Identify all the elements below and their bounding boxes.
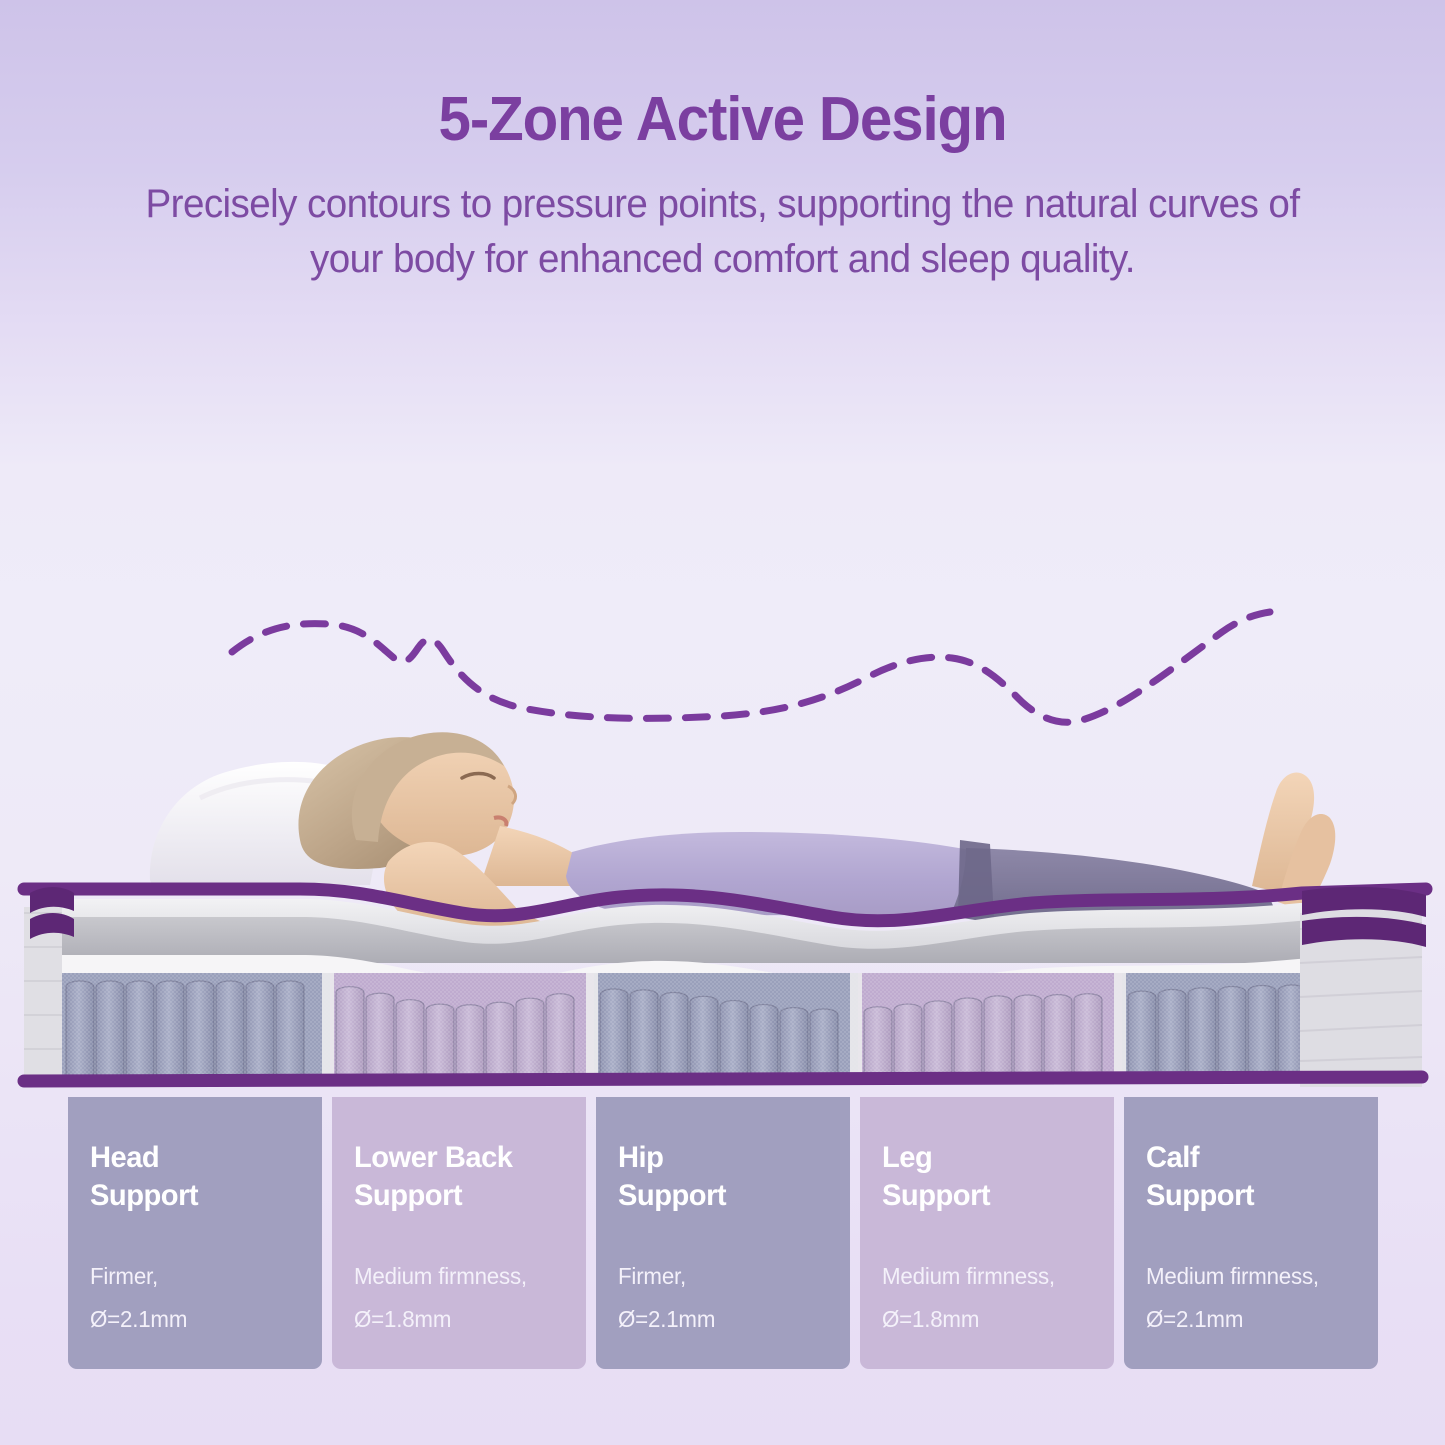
infographic-page: 5-Zone Active Design Precisely contours …	[0, 0, 1445, 1445]
zone-title-head: Head Support	[90, 1139, 296, 1215]
zone-card-hip: Hip SupportFirmer, Ø=2.1mm	[596, 1097, 850, 1369]
zone-description-head: Firmer, Ø=2.1mm	[90, 1255, 296, 1341]
zone-title-lower-back: Lower Back Support	[354, 1139, 560, 1215]
zone-card-head: Head SupportFirmer, Ø=2.1mm	[68, 1097, 322, 1369]
zone-card-lower-back: Lower Back SupportMedium firmness, Ø=1.8…	[332, 1097, 586, 1369]
bottom-piping	[24, 1077, 1422, 1081]
right-side-panel	[1300, 887, 1426, 1087]
page-subtitle: Precisely contours to pressure points, s…	[25, 177, 1419, 286]
zone-title-hip: Hip Support	[618, 1139, 824, 1215]
page-title: 5-Zone Active Design	[43, 88, 1401, 151]
zone-cards-row: Head SupportFirmer, Ø=2.1mmLower Back Su…	[0, 1097, 1445, 1377]
zone-title-calf: Calf Support	[1146, 1139, 1352, 1215]
zone-title-leg: Leg Support	[882, 1139, 1088, 1215]
header: 5-Zone Active Design Precisely contours …	[0, 0, 1445, 286]
zone-description-leg: Medium firmness, Ø=1.8mm	[882, 1255, 1088, 1341]
mattress-cutaway	[0, 855, 1445, 1100]
zone-card-leg: Leg SupportMedium firmness, Ø=1.8mm	[860, 1097, 1114, 1369]
zone-description-lower-back: Medium firmness, Ø=1.8mm	[354, 1255, 560, 1341]
zone-description-calf: Medium firmness, Ø=2.1mm	[1146, 1255, 1352, 1341]
zone-description-hip: Firmer, Ø=2.1mm	[618, 1255, 824, 1341]
pocket-coils	[62, 973, 1352, 1081]
zone-card-calf: Calf SupportMedium firmness, Ø=2.1mm	[1124, 1097, 1378, 1369]
